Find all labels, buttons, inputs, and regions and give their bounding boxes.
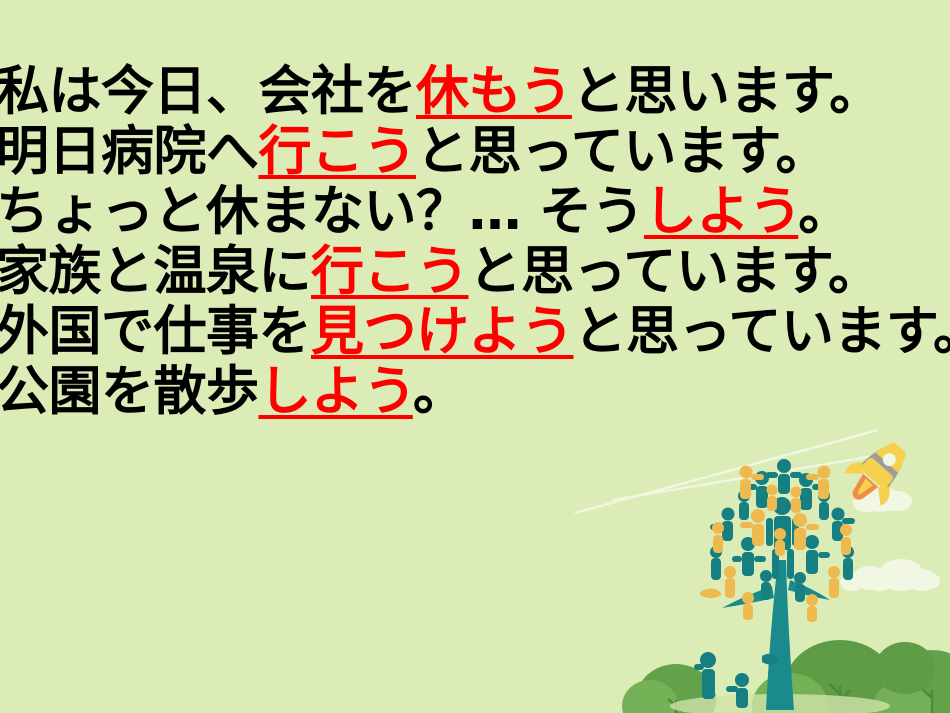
line-3-after: 。	[798, 181, 851, 242]
line-5-highlight: 見つけよう	[311, 301, 574, 362]
sentence-line-5: 外国で仕事を見つけようと思っています。	[0, 302, 950, 362]
sentence-line-3: ちょっと休まない？… そうしよう。	[0, 182, 950, 242]
line-4-highlight: 行こう	[311, 241, 469, 302]
people-tree-illustration	[694, 459, 855, 710]
line-2-after: と思っています。	[416, 121, 828, 182]
line-6-highlight: しよう	[259, 361, 413, 422]
line-2-highlight: 行こう	[259, 121, 417, 182]
rocket-trail-lines	[575, 430, 880, 513]
line-6-after: 。	[413, 361, 466, 422]
sentence-line-4: 家族と温泉に行こうと思っています。	[0, 242, 950, 302]
line-6-before: 公園を散歩	[0, 361, 259, 422]
line-1-highlight: 休もう	[416, 61, 572, 122]
sentence-line-1: 私は今日、会社を休もうと思います。	[0, 62, 950, 122]
line-1-before: 私は今日、会社を	[0, 61, 416, 122]
sentence-line-2: 明日病院へ行こうと思っています。	[0, 122, 950, 182]
line-1-after: と思います。	[572, 61, 882, 122]
bush-illustration	[622, 640, 950, 713]
line-4-before: 家族と温泉に	[0, 241, 311, 302]
line-3-before: ちょっと休まない？… そう	[0, 181, 644, 242]
tree-shadow	[670, 694, 890, 713]
slide-text-block: 私は今日、会社を休もうと思います。 明日病院へ行こうと思っています。 ちょっと休…	[0, 62, 950, 422]
slide-canvas: 私は今日、会社を休もうと思います。 明日病院へ行こうと思っています。 ちょっと休…	[0, 0, 950, 713]
cloud-illustration	[840, 486, 940, 591]
sentence-line-6: 公園を散歩しよう。	[0, 362, 950, 422]
line-3-highlight: しよう	[644, 181, 798, 242]
line-5-before: 外国で仕事を	[0, 301, 311, 362]
line-2-before: 明日病院へ	[0, 121, 259, 182]
line-5-after: と思っています。	[574, 301, 950, 362]
rocket-illustration	[835, 430, 919, 515]
line-4-after: と思っています。	[469, 241, 881, 302]
